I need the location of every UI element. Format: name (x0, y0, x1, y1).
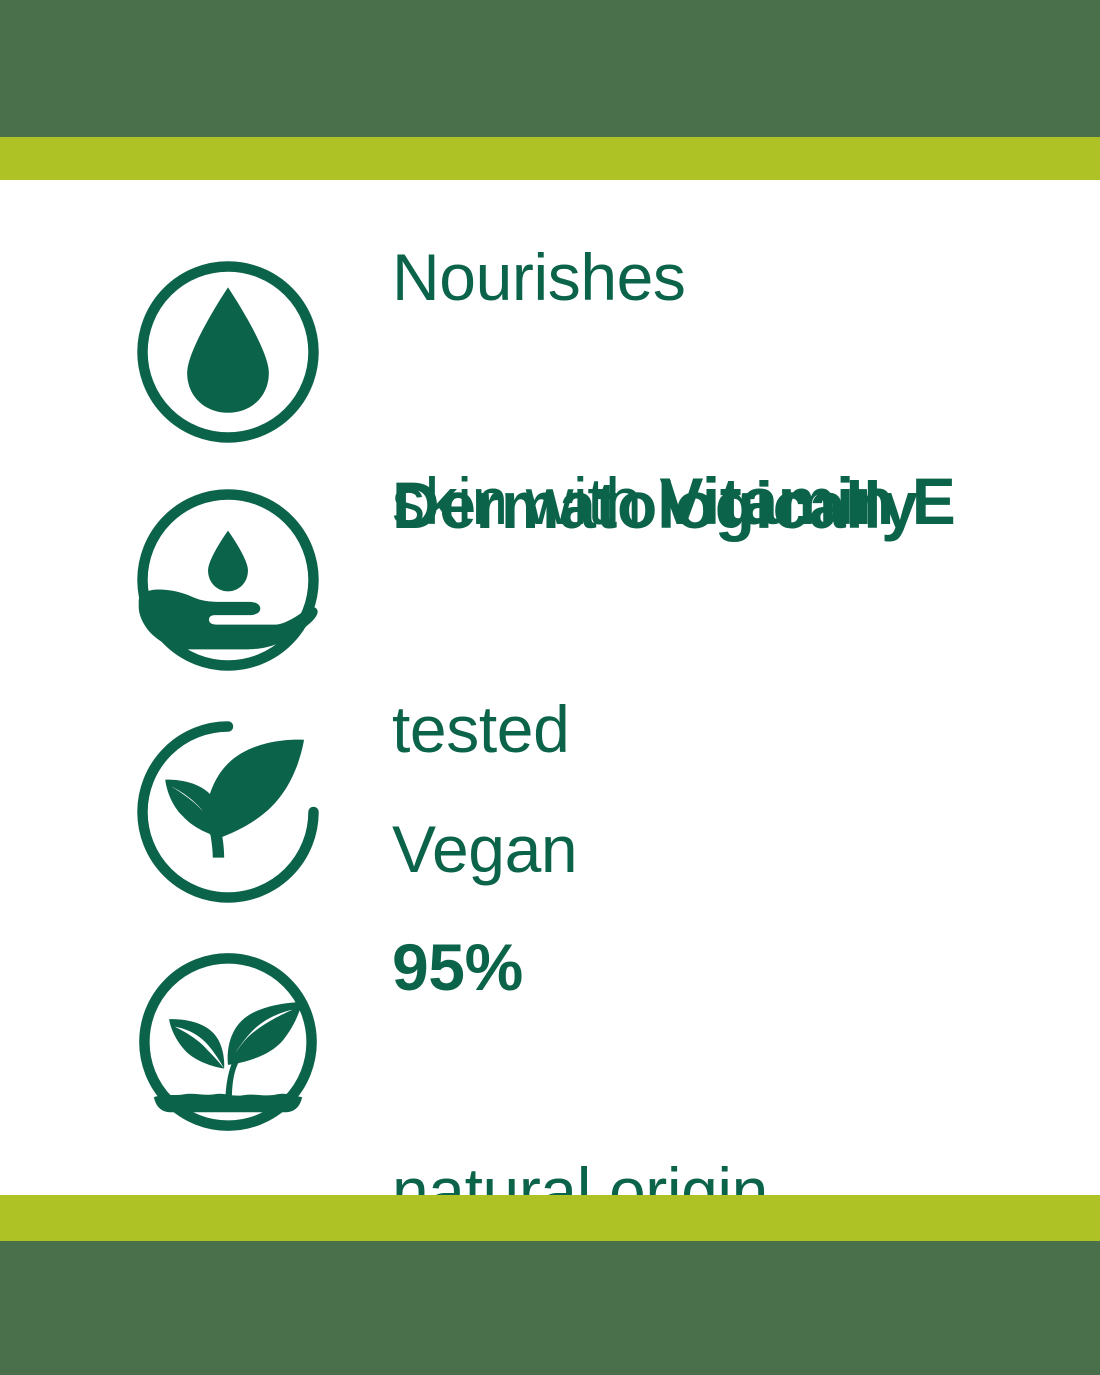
water-droplet-in-circle-icon (133, 257, 323, 447)
seedling-sprout-in-circle-icon (133, 947, 323, 1137)
benefit-line1: Nourishes (392, 240, 686, 314)
bottom-lime-band (0, 1195, 1100, 1241)
benefit-line1: Dermatologically (392, 468, 917, 542)
benefit-row-dermatologically-tested: Dermatologically tested (0, 476, 1100, 684)
product-benefits-infographic: Nourishes skin with Vitamin E Dermatolog… (0, 0, 1100, 1375)
benefit-icon-slot (0, 485, 392, 675)
two-leaves-in-circle-icon (133, 717, 323, 907)
benefit-icon-slot (0, 947, 392, 1137)
benefit-icon-slot (0, 717, 392, 907)
benefits-list: Nourishes skin with Vitamin E Dermatolog… (0, 180, 1100, 1195)
bottom-dark-green-band (0, 1241, 1100, 1375)
hand-with-droplet-in-circle-icon (133, 485, 323, 675)
benefit-line1: 95% (392, 930, 523, 1004)
benefit-row-natural-origin: 95% natural origin (0, 938, 1100, 1146)
benefit-icon-slot (0, 257, 392, 447)
